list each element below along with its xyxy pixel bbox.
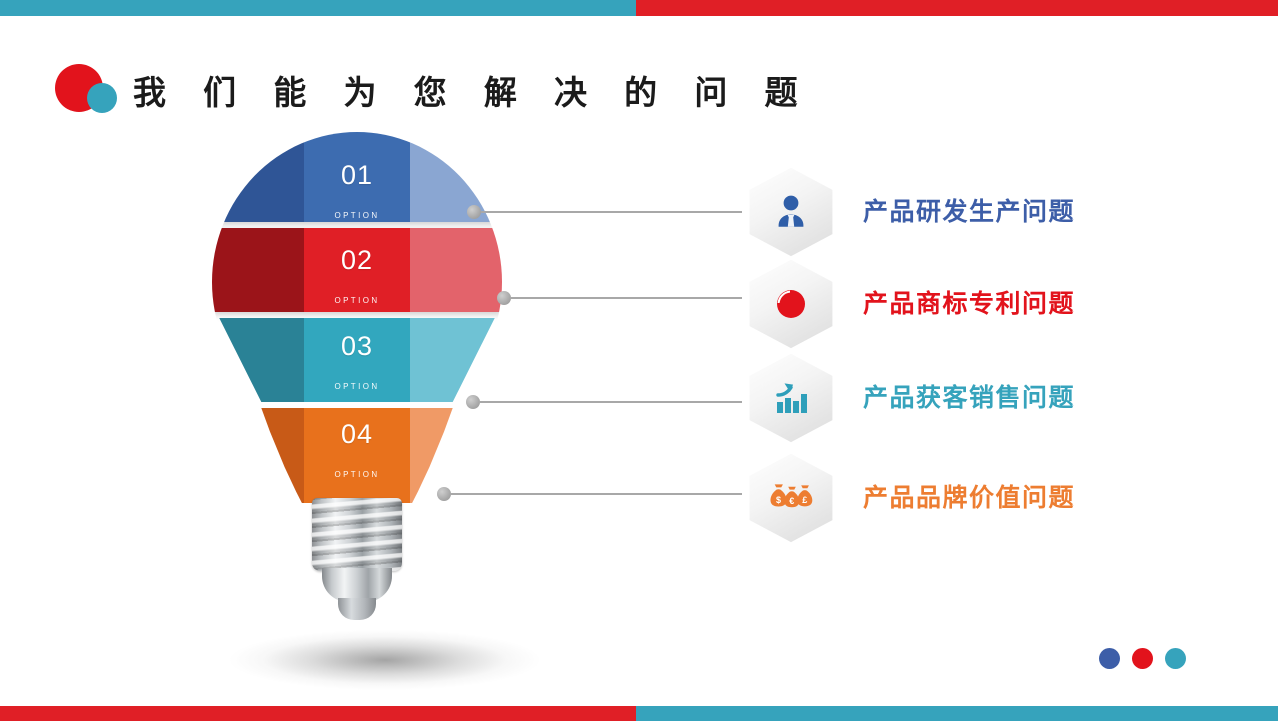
svg-text:£: £ xyxy=(802,495,807,505)
list-item-03[interactable]: 产品获客销售问题 xyxy=(745,352,1075,444)
segment-band-mid xyxy=(304,318,409,402)
bottom-bar-left-segment xyxy=(0,706,636,721)
logo-circle-teal-icon xyxy=(87,83,117,113)
connector-line xyxy=(511,297,742,299)
connector-line xyxy=(480,401,742,403)
hexagon-badge-03[interactable] xyxy=(745,352,837,444)
list-item-01[interactable]: 产品研发生产问题 xyxy=(745,166,1075,258)
bulb-base-tip xyxy=(338,598,376,620)
segment-band-mid xyxy=(304,408,409,503)
connector-line xyxy=(481,211,742,213)
bulb-base-collar xyxy=(322,568,392,602)
corner-dots xyxy=(1099,648,1186,669)
connector-02 xyxy=(497,291,742,305)
bulb-body: 01 OPTION 02 OPTION 03 OPTION xyxy=(212,130,502,600)
bulb-segment-03[interactable] xyxy=(212,318,502,402)
bulb-screw-base-icon xyxy=(308,498,406,623)
person-icon xyxy=(771,192,811,232)
connector-line xyxy=(451,493,742,495)
list-item-01-label: 产品研发生产问题 xyxy=(863,200,1075,225)
hexagon-badge-02[interactable] xyxy=(745,258,837,350)
bottom-bar-right-segment xyxy=(636,706,1278,721)
svg-text:€: € xyxy=(789,496,794,506)
page-title: 我 们 能 为 您 解 决 的 问 题 xyxy=(133,76,812,109)
top-decor-bar xyxy=(0,0,1278,16)
segment-band-dark xyxy=(212,228,304,312)
hexagon-badge-04[interactable]: $ € £ xyxy=(745,452,837,544)
list-item-04[interactable]: $ € £ 产品品牌价值问题 xyxy=(745,452,1075,544)
svg-text:$: $ xyxy=(776,495,781,505)
segment-band-light xyxy=(410,228,502,312)
segment-band-mid xyxy=(304,130,409,222)
slide-header: 我 们 能 为 您 解 决 的 问 题 xyxy=(55,57,812,127)
segment-band-light xyxy=(410,318,502,402)
bulb-drop-shadow xyxy=(190,622,580,698)
segment-band-mid xyxy=(304,228,409,312)
money-bags-icon: $ € £ xyxy=(769,478,813,518)
corner-dot-teal-icon xyxy=(1165,648,1186,669)
connector-04 xyxy=(437,487,742,501)
connector-dot-icon xyxy=(466,395,480,409)
corner-dot-red-icon xyxy=(1132,648,1153,669)
segment-band-dark xyxy=(212,130,304,222)
list-item-03-label: 产品获客销售问题 xyxy=(863,386,1075,411)
top-bar-left-segment xyxy=(0,0,636,16)
corner-dot-blue-icon xyxy=(1099,648,1120,669)
bulb-base-threads xyxy=(312,498,402,571)
connector-dot-icon xyxy=(467,205,481,219)
top-bar-right-segment xyxy=(636,0,1278,16)
connector-dot-icon xyxy=(497,291,511,305)
segment-band-dark xyxy=(212,318,304,402)
bulb-segment-01[interactable] xyxy=(212,130,502,222)
connector-03 xyxy=(466,395,742,409)
pie-chart-icon xyxy=(771,284,811,324)
logo-marks xyxy=(55,64,127,120)
bottom-decor-bar xyxy=(0,706,1278,721)
bulb-segment-02[interactable] xyxy=(212,228,502,312)
list-item-02-label: 产品商标专利问题 xyxy=(863,292,1075,317)
segment-band-dark xyxy=(212,408,304,503)
bar-chart-growth-icon xyxy=(771,378,811,418)
list-item-04-label: 产品品牌价值问题 xyxy=(863,486,1075,511)
connector-dot-icon xyxy=(437,487,451,501)
hexagon-badge-01[interactable] xyxy=(745,166,837,258)
list-item-02[interactable]: 产品商标专利问题 xyxy=(745,258,1075,350)
connector-01 xyxy=(467,205,742,219)
